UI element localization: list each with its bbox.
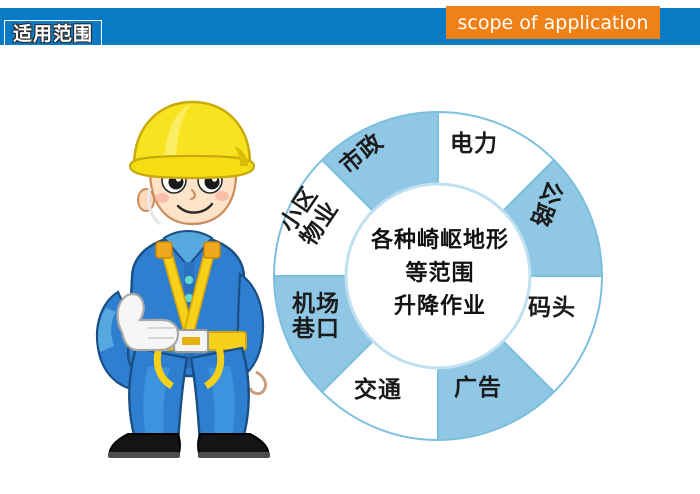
donut-center-line-1: 各种崎岖地形 [358,224,522,257]
construction-worker-illustration [88,96,288,462]
page-title-english: scope of application [458,13,649,33]
donut-center-line-3: 升降作业 [358,290,522,323]
donut-label-jichang-line2: 巷口 [292,317,340,342]
donut-label-jichang[interactable]: 机场 巷口 [292,292,340,342]
donut-center-text: 各种崎岖地形 等范围 升降作业 [358,224,522,323]
page-title-english-badge: scope of application [446,6,660,39]
scope-donut-diagram: 市政 电力 公路 码头 广告 交通 机场 巷口 小区 物业 各种崎岖地形 等范围… [272,106,608,446]
donut-label-dianli[interactable]: 电力 [450,132,498,156]
worker-boots [108,434,270,458]
donut-label-jiaotong[interactable]: 交通 [354,378,402,402]
page-title-chinese: 适用范围 [4,20,102,50]
donut-label-jichang-line1: 机场 [292,292,340,317]
donut-center-line-2: 等范围 [358,257,522,290]
worker-svg [88,96,288,462]
worker-helmet [130,102,254,178]
donut-label-matou[interactable]: 码头 [528,296,576,320]
donut-label-guanggao[interactable]: 广告 [454,376,502,400]
